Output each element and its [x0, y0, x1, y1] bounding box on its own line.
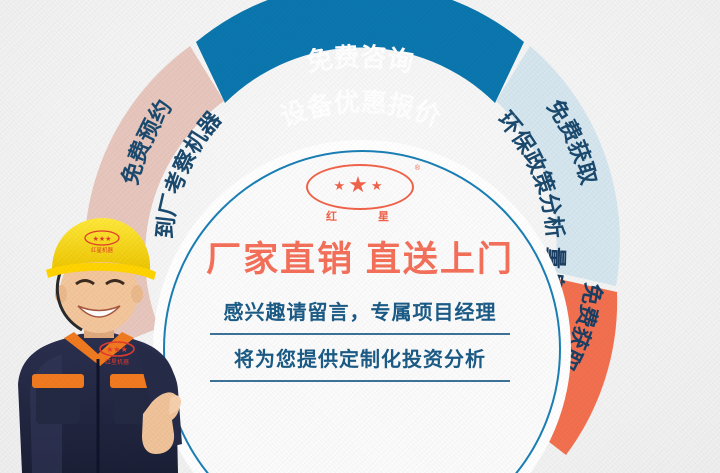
divider-bottom: [210, 380, 510, 382]
banner-root: 免费预约 到厂考察机器 免费咨询 设备优惠报价 免费获取 环保政策分析: [0, 0, 720, 473]
star-small-right-icon: ★: [371, 179, 383, 192]
logo-brand-name: 红 星: [306, 208, 410, 224]
logo-brand-char-right: 星: [378, 208, 390, 224]
subline-secondary: 将为您提供定制化投资分析: [163, 343, 557, 372]
svg-text:红星机器: 红星机器: [91, 246, 114, 254]
hongxing-logo: ★ ★ ★ ® 红 星: [300, 164, 420, 230]
registered-mark-icon: ®: [415, 165, 420, 172]
headline: 厂家直销 直送上门: [163, 240, 557, 280]
worker-ear-right: [131, 285, 143, 303]
worker-pocket-left: [36, 384, 80, 424]
center-content: ★ ★ ★ ® 红 星 厂家直销 直送上门 感兴趣请留言，专属项目经理 将为您提…: [163, 150, 557, 390]
star-large-icon: ★: [348, 174, 368, 196]
subline-primary: 感兴趣请留言，专属项目经理: [163, 296, 557, 325]
divider-top: [210, 333, 510, 335]
logo-stars-icon: ★ ★ ★: [306, 164, 410, 206]
star-small-left-icon: ★: [333, 179, 345, 192]
svg-text:★★★: ★★★: [106, 345, 128, 354]
worker-chest-badge-text: 红星机器: [105, 358, 129, 366]
svg-text:★★★: ★★★: [93, 235, 112, 243]
worker-photo: ★★★ 红星机器: [2, 214, 217, 473]
logo-brand-char-left: 红: [326, 208, 338, 224]
worker-pocket-flap-left: [32, 374, 84, 388]
